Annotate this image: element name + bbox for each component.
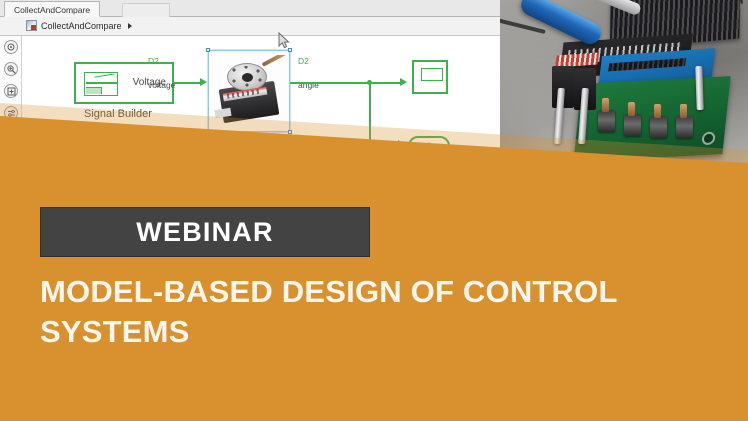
signal-builder-icon bbox=[84, 72, 118, 96]
block-scope[interactable] bbox=[412, 60, 448, 94]
arduino-hardware-photo bbox=[500, 0, 748, 170]
zoom-reset-icon[interactable] bbox=[4, 40, 18, 54]
wire-voltage-to-servo bbox=[174, 82, 202, 84]
mouse-pointer bbox=[278, 32, 291, 50]
signal-label-d2-angle-name: D2 bbox=[298, 56, 309, 66]
block-servo-motor[interactable] bbox=[208, 50, 290, 132]
signal-label-d2-voltage-name: D2 bbox=[148, 56, 159, 66]
slide-root: CollectAndCompare CollectAndCompare bbox=[0, 0, 748, 421]
selection-handle[interactable] bbox=[288, 130, 292, 134]
webinar-badge: WEBINAR bbox=[40, 207, 370, 257]
fit-to-view-icon[interactable] bbox=[4, 84, 18, 98]
block-voltage-caption: Signal Builder bbox=[84, 108, 152, 120]
webinar-badge-label: WEBINAR bbox=[136, 217, 273, 248]
page-title: MODEL-BASED DESIGN OF CONTROL SYSTEMS bbox=[40, 272, 640, 351]
wire-branch-down bbox=[369, 82, 371, 146]
arrow-into-servo bbox=[200, 78, 207, 86]
breadcrumb[interactable]: CollectAndCompare bbox=[26, 20, 132, 31]
tab-strip: CollectAndCompare bbox=[0, 0, 500, 17]
simulink-model-icon bbox=[26, 20, 37, 31]
zoom-in-icon[interactable] bbox=[4, 62, 18, 76]
breadcrumb-label: CollectAndCompare bbox=[41, 21, 122, 31]
signal-label-voltage-port: voltage bbox=[148, 80, 175, 90]
tab-collect-and-compare[interactable]: CollectAndCompare bbox=[4, 1, 100, 17]
scope-icon bbox=[421, 68, 443, 81]
wire-servo-to-scope bbox=[290, 82, 404, 84]
tab-inactive-placeholder[interactable] bbox=[122, 3, 170, 17]
selection-handle[interactable] bbox=[206, 48, 210, 52]
servo-motor-photo bbox=[213, 55, 285, 127]
arrow-into-scope bbox=[400, 78, 407, 86]
chevron-right-icon[interactable] bbox=[128, 23, 132, 29]
